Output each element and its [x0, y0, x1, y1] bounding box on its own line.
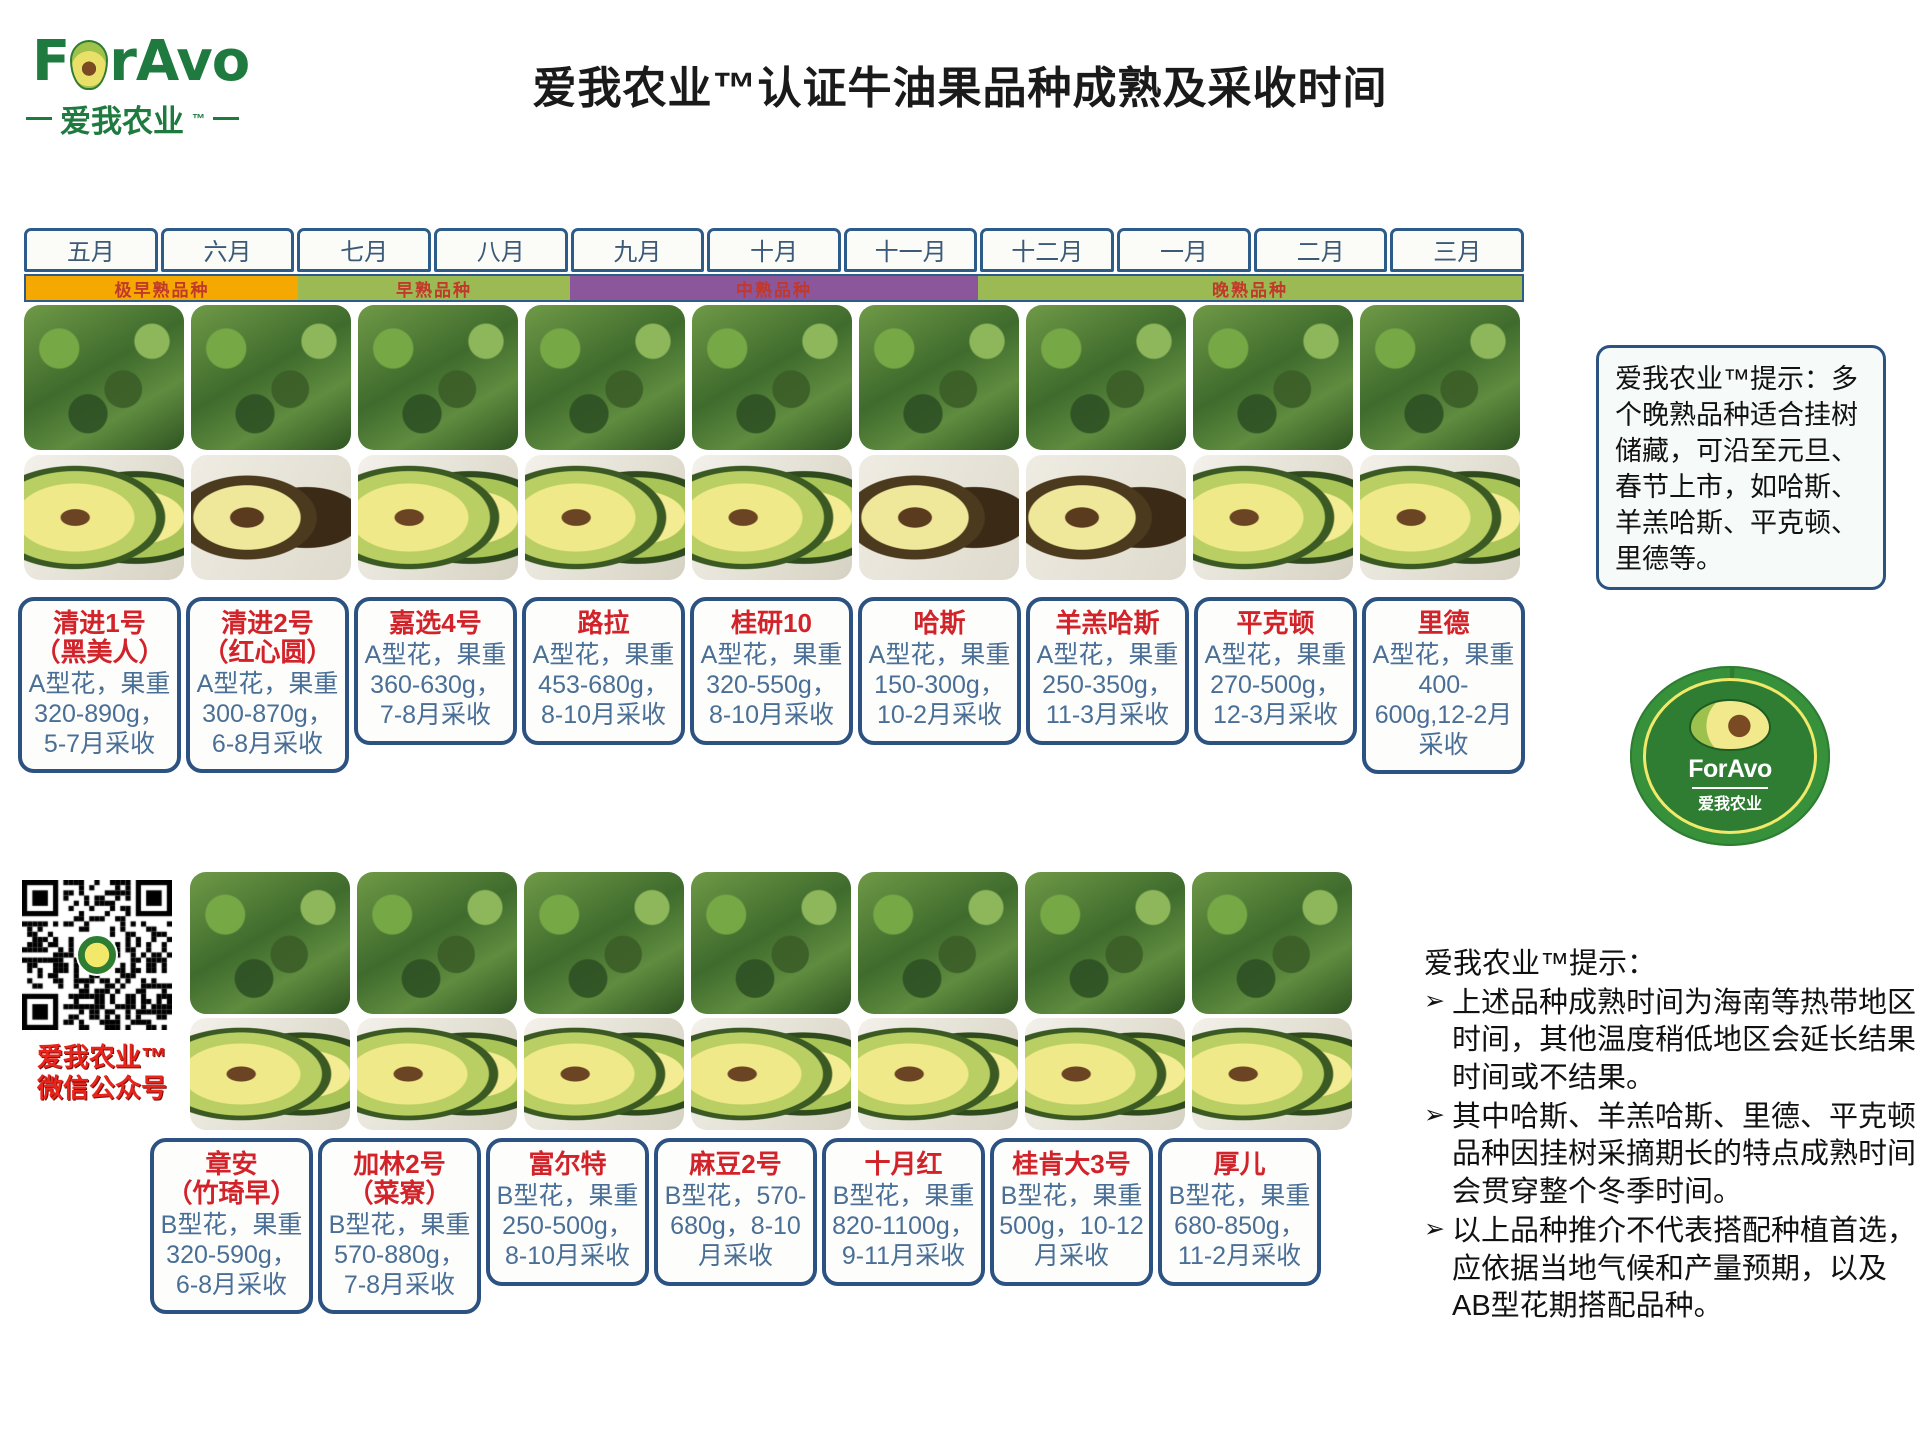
variety-name: 清进1号: [26, 609, 173, 638]
season-band-4: 晚熟品种: [978, 276, 1522, 300]
variety-card: 桂研10A型花，果重320-550g，8-10月采收: [690, 597, 853, 745]
seal-inner-disc: ForAvo 爱我农业: [1643, 678, 1817, 834]
variety-description: B型花，果重820-1100g，9-11月采收: [830, 1181, 977, 1271]
variety-description: A型花，果重150-300g，10-2月采收: [866, 640, 1013, 730]
cut-photo-zhangan: [190, 1018, 350, 1130]
month-cell-2: 六月: [161, 228, 295, 272]
note-bullet-icon: ➢: [1424, 1213, 1446, 1326]
row-a-fruit-photos: [24, 455, 1520, 580]
variety-card: 嘉选4号A型花，果重360-630g，7-8月采收: [354, 597, 517, 745]
note-item: ➢以上品种推介不代表搭配种植首选，应依据当地气候和产量预期，以及AB型花期搭配品…: [1424, 1213, 1916, 1326]
cut-photo-fuerte: [524, 1018, 684, 1130]
notes-list: ➢上述品种成熟时间为海南等热带地区时间，其他温度稍低地区会延长结果时间或不结果。…: [1424, 985, 1916, 1326]
variety-card: 加林2号（菜寮）B型花，果重570-880g，7-8月采收: [318, 1138, 481, 1314]
variety-card: 桂肯大3号B型花，果重500g，10-12月采收: [990, 1138, 1153, 1286]
cut-photo-jialin2: [357, 1018, 517, 1130]
qr-code-icon[interactable]: [22, 880, 172, 1030]
month-cell-10: 二月: [1254, 228, 1388, 272]
qr-caption: 爱我农业™ 微信公众号: [22, 1042, 182, 1103]
season-band-2: 早熟品种: [298, 276, 570, 300]
variety-description: A型花，果重250-350g，11-3月采收: [1034, 640, 1181, 730]
variety-card: 哈斯A型花，果重150-300g，10-2月采收: [858, 597, 1021, 745]
season-band-3: 中熟品种: [570, 276, 978, 300]
month-cell-5: 九月: [571, 228, 705, 272]
variety-card: 富尔特B型花，果重250-500g，8-10月采收: [486, 1138, 649, 1286]
variety-card: 路拉A型花，果重453-680g，8-10月采收: [522, 597, 685, 745]
variety-card: 清进1号（黑美人）A型花，果重320-890g，5-7月采收: [18, 597, 181, 773]
variety-description: B型花，果重320-590g，6-8月采收: [158, 1210, 305, 1300]
variety-name: 章安: [158, 1150, 305, 1179]
variety-description: A型花，果重453-680g，8-10月采收: [530, 640, 677, 730]
note-text: 以上品种推介不代表搭配种植首选，应依据当地气候和产量预期，以及AB型花期搭配品种…: [1452, 1213, 1916, 1326]
tree-photo-zhangan: [190, 872, 350, 1014]
variety-card: 厚儿B型花，果重680-850g，11-2月采收: [1158, 1138, 1321, 1286]
cut-photo-lula: [525, 455, 685, 580]
tree-photo-shiyuehong: [858, 872, 1018, 1014]
variety-card: 十月红B型花，果重820-1100g，9-11月采收: [822, 1138, 985, 1286]
seal-rule: [1692, 787, 1768, 789]
cut-photo-hass: [859, 455, 1019, 580]
tree-photo-jialin2: [357, 872, 517, 1014]
note-text: 其中哈斯、羊羔哈斯、里德、平克顿品种因挂树采摘期长的特点成熟时间会贯穿整个冬季时…: [1452, 1099, 1916, 1212]
tree-photo-reed: [1360, 305, 1520, 450]
certification-seal: ForAvo 爱我农业: [1630, 666, 1830, 846]
variety-description: B型花，果重250-500g，8-10月采收: [494, 1181, 641, 1271]
avocado-seal-icon: [1689, 699, 1771, 751]
seal-wordmark: ForAvo: [1688, 755, 1772, 784]
row-a-tree-photos: [24, 305, 1520, 450]
month-cell-6: 十月: [707, 228, 841, 272]
month-cell-8: 十二月: [980, 228, 1114, 272]
tree-photo-guiyan10: [692, 305, 852, 450]
variety-name: 十月红: [830, 1150, 977, 1179]
tree-photo-fuerte: [524, 872, 684, 1014]
row-b-variety-cards: 章安（竹琦早）B型花，果重320-590g，6-8月采收加林2号（菜寮）B型花，…: [150, 1138, 1321, 1314]
variety-name: 清进2号: [194, 609, 341, 638]
note-bullet-icon: ➢: [1424, 985, 1446, 1098]
variety-description: A型花，果重300-870g，6-8月采收: [194, 669, 341, 759]
note-item: ➢其中哈斯、羊羔哈斯、里德、平克顿品种因挂树采摘期长的特点成熟时间会贯穿整个冬季…: [1424, 1099, 1916, 1212]
variety-name: 桂研10: [698, 609, 845, 638]
row-b-fruit-photos: [190, 1018, 1352, 1130]
notes-heading: 爱我农业™提示：: [1424, 946, 1916, 984]
seal-outer-ring: ForAvo 爱我农业: [1630, 666, 1830, 846]
qr-caption-line2: 微信公众号: [22, 1073, 182, 1104]
month-cell-4: 八月: [434, 228, 568, 272]
variety-card: 清进2号（红心圆）A型花，果重300-870g，6-8月采收: [186, 597, 349, 773]
tree-photo-qingjin2: [191, 305, 351, 450]
variety-description: B型花，果重500g，10-12月采收: [998, 1181, 1145, 1271]
cut-photo-qingjin1: [24, 455, 184, 580]
variety-name: 路拉: [530, 609, 677, 638]
tree-photo-yanggaohass: [1026, 305, 1186, 450]
variety-description: A型花，果重320-550g，8-10月采收: [698, 640, 845, 730]
cut-photo-guikenda3: [1025, 1018, 1185, 1130]
variety-description: B型花，果重570-880g，7-8月采收: [326, 1210, 473, 1300]
cut-photo-jiaxuan4: [358, 455, 518, 580]
variety-name: 厚儿: [1166, 1150, 1313, 1179]
variety-alias: （菜寮）: [326, 1179, 473, 1208]
variety-name: 哈斯: [866, 609, 1013, 638]
season-band-row: 极早熟品种早熟品种中熟品种晚熟品种: [24, 274, 1524, 302]
season-band-1: 极早熟品种: [26, 276, 298, 300]
cut-photo-pinkerton: [1193, 455, 1353, 580]
variety-card: 里德A型花，果重400-600g,12-2月采收: [1362, 597, 1525, 774]
month-cell-9: 一月: [1117, 228, 1251, 272]
variety-description: A型花，果重360-630g，7-8月采收: [362, 640, 509, 730]
cut-photo-madou2: [691, 1018, 851, 1130]
tree-photo-pinkerton: [1193, 305, 1353, 450]
variety-alias: （竹琦早）: [158, 1179, 305, 1208]
page-title: 爱我农业™认证牛油果品种成熟及采收时间: [0, 52, 1920, 116]
variety-card: 羊羔哈斯A型花，果重250-350g，11-3月采收: [1026, 597, 1189, 745]
cut-photo-houer: [1192, 1018, 1352, 1130]
tree-photo-guikenda3: [1025, 872, 1185, 1014]
cut-photo-qingjin2: [191, 455, 351, 580]
qr-center-logo: [76, 934, 118, 976]
month-header-row: 五月六月七月八月九月十月十一月十二月一月二月三月: [24, 228, 1524, 272]
month-cell-1: 五月: [24, 228, 158, 272]
month-cell-11: 三月: [1390, 228, 1524, 272]
variety-name: 羊羔哈斯: [1034, 609, 1181, 638]
cut-photo-guiyan10: [692, 455, 852, 580]
cut-photo-reed: [1360, 455, 1520, 580]
season-timeline: 五月六月七月八月九月十月十一月十二月一月二月三月 极早熟品种早熟品种中熟品种晚熟…: [24, 228, 1524, 302]
cut-photo-shiyuehong: [858, 1018, 1018, 1130]
variety-card: 平克顿A型花，果重270-500g，12-3月采收: [1194, 597, 1357, 745]
footer-notes: 爱我农业™提示： ➢上述品种成熟时间为海南等热带地区时间，其他温度稍低地区会延长…: [1424, 946, 1916, 1327]
variety-name: 麻豆2号: [662, 1150, 809, 1179]
qr-caption-line1: 爱我农业™: [22, 1042, 182, 1073]
variety-name: 富尔特: [494, 1150, 641, 1179]
variety-description: A型花，果重270-500g，12-3月采收: [1202, 640, 1349, 730]
variety-description: A型花，果重320-890g，5-7月采收: [26, 669, 173, 759]
tree-photo-houer: [1192, 872, 1352, 1014]
variety-name: 加林2号: [326, 1150, 473, 1179]
infographic-page: FrAvo 爱我农业 ™ 爱我农业™认证牛油果品种成熟及采收时间 五月六月七月八…: [0, 0, 1920, 1440]
logo-rule-left: [26, 117, 52, 120]
tree-photo-lula: [525, 305, 685, 450]
variety-alias: （红心圆）: [194, 638, 341, 667]
month-cell-3: 七月: [297, 228, 431, 272]
tree-photo-qingjin1: [24, 305, 184, 450]
variety-card: 章安（竹琦早）B型花，果重320-590g，6-8月采收: [150, 1138, 313, 1314]
wechat-qr-block: 爱我农业™ 微信公众号: [22, 880, 182, 1103]
variety-alias: （黑美人）: [26, 638, 173, 667]
row-a-variety-cards: 清进1号（黑美人）A型花，果重320-890g，5-7月采收清进2号（红心圆）A…: [18, 597, 1525, 774]
late-variety-tip-box: 爱我农业™提示：多个晚熟品种适合挂树储藏，可沿至元旦、春节上市，如哈斯、羊羔哈斯…: [1596, 345, 1886, 590]
tree-photo-madou2: [691, 872, 851, 1014]
seal-cn-name: 爱我农业: [1698, 790, 1762, 814]
row-b-tree-photos: [190, 872, 1352, 1014]
variety-description: B型花，570-680g，8-10月采收: [662, 1181, 809, 1271]
tree-photo-hass: [859, 305, 1019, 450]
variety-name: 平克顿: [1202, 609, 1349, 638]
cut-photo-yanggaohass: [1026, 455, 1186, 580]
logo-rule-right: [213, 117, 239, 120]
variety-description: B型花，果重680-850g，11-2月采收: [1166, 1181, 1313, 1271]
note-item: ➢上述品种成熟时间为海南等热带地区时间，其他温度稍低地区会延长结果时间或不结果。: [1424, 985, 1916, 1098]
tree-photo-jiaxuan4: [358, 305, 518, 450]
month-cell-7: 十一月: [844, 228, 978, 272]
variety-name: 嘉选4号: [362, 609, 509, 638]
note-text: 上述品种成熟时间为海南等热带地区时间，其他温度稍低地区会延长结果时间或不结果。: [1452, 985, 1916, 1098]
variety-name: 桂肯大3号: [998, 1150, 1145, 1179]
variety-card: 麻豆2号B型花，570-680g，8-10月采收: [654, 1138, 817, 1286]
variety-description: A型花，果重400-600g,12-2月采收: [1370, 640, 1517, 760]
note-bullet-icon: ➢: [1424, 1099, 1446, 1212]
variety-name: 里德: [1370, 609, 1517, 638]
